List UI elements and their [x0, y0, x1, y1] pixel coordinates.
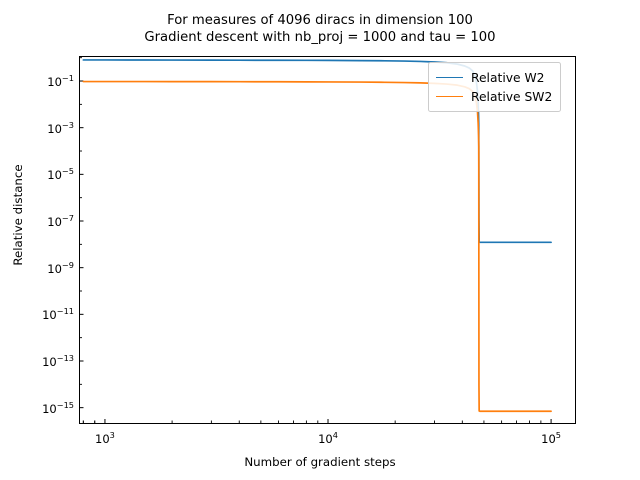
y-tick-label-5: 10−11: [30, 306, 74, 322]
y-tick-label-6: 10−13: [30, 353, 74, 369]
series-line-relative-sw2: [83, 82, 551, 412]
y-tick-label-2: 10−5: [30, 166, 74, 182]
x-tick-label-0: 103: [95, 430, 115, 446]
y-axis-label: Relative distance: [11, 115, 25, 315]
y-tick-label-7: 10−15: [30, 400, 74, 416]
x-tick-label-group: 103104105: [0, 430, 640, 452]
y-tick-label-0: 10−1: [30, 73, 74, 89]
figure: For measures of 4096 diracs in dimension…: [0, 0, 640, 480]
x-axis-label: Number of gradient steps: [0, 455, 640, 469]
legend[interactable]: Relative W2 Relative SW2: [428, 62, 561, 112]
legend-entry-0[interactable]: Relative W2: [436, 68, 552, 87]
chart-title-line-1: For measures of 4096 diracs in dimension…: [167, 13, 473, 28]
y-tick-label-1: 10−3: [30, 120, 74, 136]
chart-title: For measures of 4096 diracs in dimension…: [0, 12, 640, 46]
y-tick-label-3: 10−7: [30, 213, 74, 229]
legend-entry-1[interactable]: Relative SW2: [436, 87, 552, 106]
y-tick-label-4: 10−9: [30, 260, 74, 276]
y-tick-label-group: 10−110−310−510−710−910−1110−1310−15: [22, 0, 74, 480]
x-tick-label-1: 104: [318, 430, 338, 446]
legend-swatch-relative-sw2: [436, 96, 463, 97]
legend-label-relative-sw2: Relative SW2: [471, 90, 552, 104]
legend-label-relative-w2: Relative W2: [471, 71, 544, 85]
x-tick-label-2: 105: [541, 430, 561, 446]
chart-title-line-2: Gradient descent with nb_proj = 1000 and…: [144, 30, 495, 45]
legend-swatch-relative-w2: [436, 77, 463, 78]
